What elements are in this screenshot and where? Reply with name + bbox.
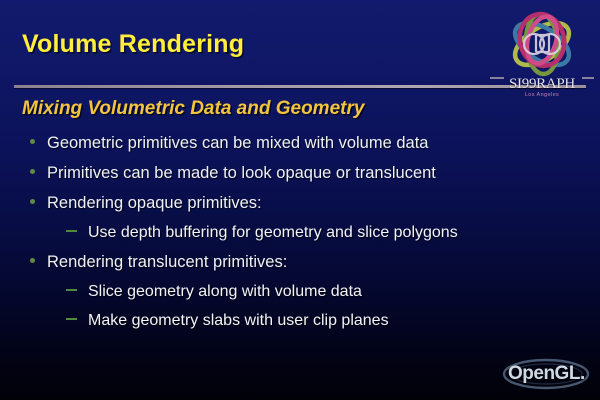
siggraph-city-label: Los Angeles xyxy=(490,92,594,98)
list-item-label: Rendering opaque primitives: xyxy=(47,194,262,213)
list-item-label: Geometric primitives can be mixed with v… xyxy=(47,134,428,153)
bullet-dash-icon xyxy=(66,318,77,320)
slide-subtitle: Mixing Volumetric Data and Geometry xyxy=(22,98,364,120)
sub-list-item: Use depth buffering for geometry and sli… xyxy=(66,224,575,242)
opengl-wordmark: OpenGL. xyxy=(508,363,585,385)
sub-list-item: Slice geometry along with volume data xyxy=(66,283,575,301)
sub-list-item-label: Use depth buffering for geometry and sli… xyxy=(88,224,458,242)
page-title: Volume Rendering xyxy=(22,30,244,59)
bullet-dash-icon xyxy=(66,289,77,291)
list-item: Primitives can be made to look opaque or… xyxy=(30,164,575,183)
siggraph-wordmark: SI99RAPH xyxy=(490,76,594,93)
list-item: Rendering opaque primitives: xyxy=(30,194,575,213)
sub-list-item-label: Make geometry slabs with user clip plane… xyxy=(88,312,389,330)
opengl-logo: OpenGL. xyxy=(500,354,592,394)
bullet-dot-icon xyxy=(30,139,35,144)
bullet-dash-icon xyxy=(66,230,77,232)
slide: Volume Rendering Mixing Volumetric Data … xyxy=(0,0,600,400)
sub-list-item-label: Slice geometry along with volume data xyxy=(88,283,362,301)
list-item: Rendering translucent primitives: xyxy=(30,253,575,272)
bullet-dot-icon xyxy=(30,199,35,204)
bullet-dot-icon xyxy=(30,258,35,263)
bullet-dot-icon xyxy=(30,169,35,174)
list-item: Geometric primitives can be mixed with v… xyxy=(30,134,575,153)
siggraph-logo: SI99RAPH Los Angeles xyxy=(490,8,594,104)
siggraph-rings-icon xyxy=(490,8,594,80)
list-item-label: Primitives can be made to look opaque or… xyxy=(47,164,436,183)
bullet-list: Geometric primitives can be mixed with v… xyxy=(30,134,575,341)
sub-list-item: Make geometry slabs with user clip plane… xyxy=(66,312,575,330)
list-item-label: Rendering translucent primitives: xyxy=(47,253,287,272)
